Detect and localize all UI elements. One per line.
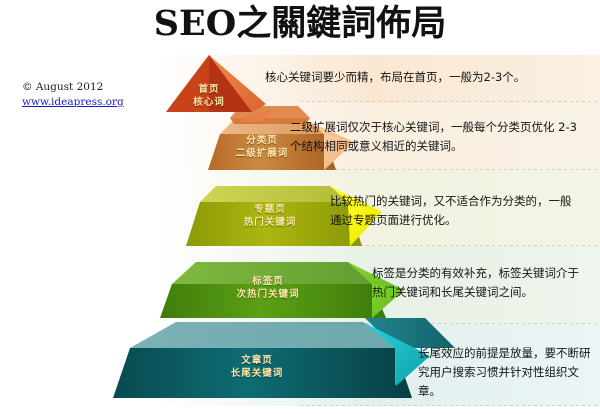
description-text: 核心关键词要少而精，布局在首页，一般为2-3个。: [265, 68, 585, 87]
description-article: 长尾效应的前提是放量，要不断研究用户搜索习惯并针对性组织文章。: [418, 344, 593, 401]
credit-block: © August 2012 www.ideapress.org: [22, 80, 124, 110]
description-tag: 标签是分类的有效补充，标签关键词介于热门关键词和长尾关键词之间。: [372, 264, 590, 302]
description-text: 标签是分类的有效补充，标签关键词介于热门关键词和长尾关键词之间。: [372, 264, 590, 302]
band-separator-5: [300, 405, 600, 406]
band-separator-1: [300, 101, 600, 102]
description-homepage: 核心关键词要少而精，布局在首页，一般为2-3个。: [265, 68, 585, 87]
description-category: 二级扩展词仅次于核心关键词，一般每个分类页优化 2-3 个结构相同或意义相近的关…: [290, 118, 580, 156]
copyright-text: © August 2012: [22, 81, 103, 93]
band-separator-4: [300, 323, 600, 324]
description-text: 比较热门的关键词，又不适合作为分类的，一般通过专题页面进行优化。: [330, 192, 580, 230]
ideapress-link[interactable]: www.ideapress.org: [22, 95, 124, 110]
description-text: 长尾效应的前提是放量，要不断研究用户搜索习惯并针对性组织文章。: [418, 344, 593, 401]
band-separator-3: [300, 245, 600, 246]
description-topic: 比较热门的关键词，又不适合作为分类的，一般通过专题页面进行优化。: [330, 192, 580, 230]
band-separator-2: [300, 169, 600, 170]
page-title: SEO之關鍵詞佈局: [0, 2, 600, 46]
description-text: 二级扩展词仅次于核心关键词，一般每个分类页优化 2-3 个结构相同或意义相近的关…: [290, 118, 580, 156]
slide-canvas: SEO之關鍵詞佈局 © August 2012 www.ideapress.or…: [0, 0, 600, 414]
